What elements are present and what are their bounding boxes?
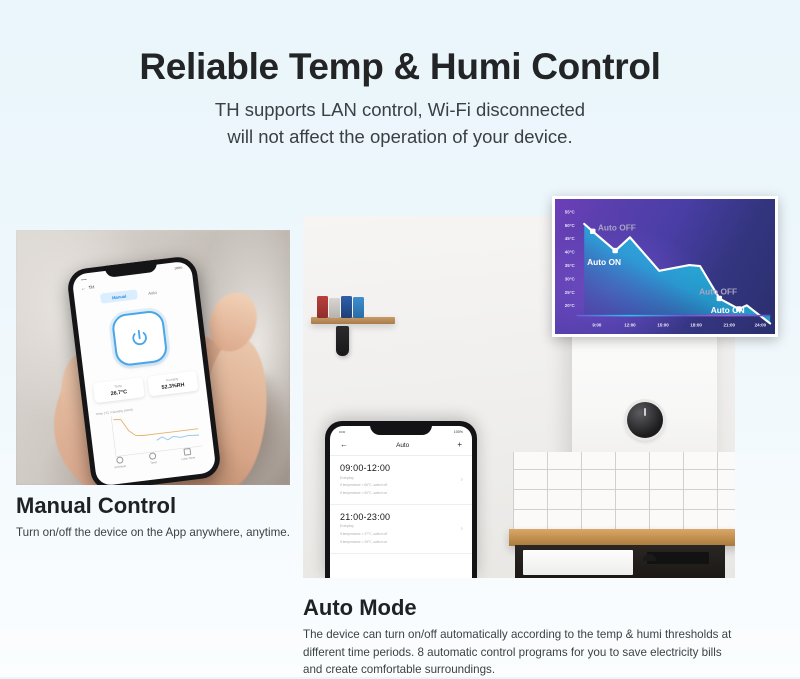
clock-icon: [115, 456, 123, 464]
manual-control-caption: Manual Control Turn on/off the device on…: [16, 493, 296, 542]
book-red: [317, 296, 328, 318]
auto-page-title: Auto: [396, 442, 409, 449]
chevron-right-icon: ›: [461, 525, 463, 532]
power-icon: [129, 327, 151, 349]
marker-point: [612, 248, 617, 253]
tab-schedule-label: Schedule: [114, 463, 126, 468]
temperature-card: Temp 26.7°C: [93, 377, 145, 402]
y-axis-ticks: 55°C 50°C 45°C 40°C 35°C 30°C 25°C 20°C: [565, 209, 576, 308]
tab-schedule[interactable]: Schedule: [113, 455, 126, 468]
wood-countertop: [509, 529, 735, 546]
auto-mode-caption: Auto Mode The device can turn on/off aut…: [303, 595, 733, 679]
tab-loop-timer[interactable]: Loop Timer: [180, 447, 195, 461]
manual-control-title: Manual Control: [16, 493, 296, 519]
page-subtitle: TH supports LAN control, Wi-Fi disconnec…: [0, 97, 800, 150]
tab-timer[interactable]: Timer: [149, 452, 157, 465]
device-name-label: TH: [88, 284, 94, 290]
annotation-auto-off: Auto OFF: [598, 223, 636, 233]
tab-timer-label: Timer: [150, 460, 157, 465]
schedule-repeat: Everyday: [340, 524, 462, 529]
status-battery: 100%: [454, 430, 463, 434]
cabinet-knob: [643, 554, 656, 561]
wall-shelf: [311, 317, 395, 324]
y-tick: 50°C: [565, 223, 576, 228]
x-tick: 9:00: [592, 322, 601, 327]
page-title: Reliable Temp & Humi Control: [0, 46, 800, 87]
status-signal: •••••: [81, 277, 87, 282]
temperature-chart-panel: 55°C 50°C 45°C 40°C 35°C 30°C 25°C 20°C …: [552, 196, 778, 337]
sensor-cards: Temp 26.7°C Humidity 52.3%RH: [85, 370, 206, 404]
schedule-rule-off: If temperature > 27°C, switch off: [340, 532, 462, 537]
y-tick: 45°C: [565, 236, 576, 241]
schedule-time: 09:00-12:00: [340, 463, 462, 473]
schedule-rule-on: If temperature < 60°C, switch on: [340, 491, 462, 496]
schedule-row[interactable]: 21:00-23:00 Everyday If temperature > 27…: [330, 505, 472, 554]
phone-notch: [370, 421, 432, 435]
auto-nav-bar: ← Auto +: [330, 434, 472, 456]
annotation-auto-on: Auto ON: [587, 257, 621, 267]
schedule-rule-on: If temperature < 25°C, switch on: [340, 540, 462, 545]
timer-icon: [149, 452, 157, 460]
y-tick: 40°C: [565, 250, 576, 255]
book-white: [329, 298, 340, 318]
boiler-dial: [627, 402, 663, 438]
x-tick: 24:00: [755, 322, 767, 327]
chevron-right-icon: ›: [461, 476, 463, 483]
subtitle-line-2: will not affect the operation of your de…: [0, 124, 800, 150]
y-tick: 35°C: [565, 263, 576, 268]
book-navy: [341, 296, 352, 318]
center-phone-screen: ••••• 100% ← Auto + 09:00-12:00 Everyday…: [330, 426, 472, 578]
back-arrow-icon[interactable]: ←: [81, 286, 86, 291]
schedule-time: 21:00-23:00: [340, 512, 462, 522]
marker-point: [590, 229, 595, 234]
y-tick: 25°C: [565, 290, 576, 295]
chart-svg: 55°C 50°C 45°C 40°C 35°C 30°C 25°C 20°C …: [555, 199, 775, 334]
kitchen-cabinet: [515, 545, 725, 578]
subtitle-line-1: TH supports LAN control, Wi-Fi disconnec…: [0, 97, 800, 123]
schedule-repeat: Everyday: [340, 476, 462, 481]
cabinet-door: [523, 550, 633, 575]
history-graph: Temp (°C) / Humidity (%RH) Schedule Time…: [95, 399, 208, 473]
manual-control-body: Turn on/off the device on the App anywhe…: [16, 524, 296, 542]
auto-mode-body: The device can turn on/off automatically…: [303, 626, 733, 679]
wall-hook: [336, 326, 349, 356]
y-tick: 20°C: [565, 303, 576, 308]
tile-backsplash: [513, 452, 735, 530]
page-header: Reliable Temp & Humi Control TH supports…: [0, 0, 800, 150]
y-tick: 30°C: [565, 276, 576, 281]
center-phone-device: ••••• 100% ← Auto + 09:00-12:00 Everyday…: [325, 421, 477, 578]
book-blue: [353, 297, 364, 318]
left-phone-screen: ••••• 100% ← TH Manual Auto Temp 26: [71, 260, 216, 485]
x-tick: 18:00: [690, 322, 702, 327]
back-arrow-icon[interactable]: ←: [340, 441, 348, 449]
annotation-auto-on: Auto ON: [711, 305, 745, 315]
plus-icon[interactable]: +: [457, 441, 462, 449]
appliance-slot: [647, 552, 709, 564]
y-tick: 55°C: [565, 209, 576, 214]
tab-manual[interactable]: Manual: [100, 289, 137, 303]
x-axis-ticks: 9:00 12:00 15:00 18:00 21:00 24:00: [592, 322, 766, 327]
status-signal: •••••: [339, 430, 345, 434]
manual-control-photo: ••••• 100% ← TH Manual Auto Temp 26: [16, 230, 290, 485]
schedule-row[interactable]: 09:00-12:00 Everyday If temperature > 66…: [330, 456, 472, 505]
loop-icon: [184, 447, 192, 455]
power-toggle-button[interactable]: [111, 309, 169, 367]
x-tick: 21:00: [724, 322, 736, 327]
humidity-card: Humidity 52.3%RH: [147, 371, 199, 396]
x-axis-line: [576, 315, 770, 317]
left-phone-device: ••••• 100% ← TH Manual Auto Temp 26: [66, 255, 222, 485]
x-tick: 15:00: [657, 322, 669, 327]
auto-mode-title: Auto Mode: [303, 595, 733, 621]
tab-loop-timer-label: Loop Timer: [181, 455, 195, 461]
tab-auto[interactable]: Auto: [137, 286, 169, 300]
schedule-rule-off: If temperature > 66°C, switch off: [340, 483, 462, 488]
annotation-auto-off: Auto OFF: [699, 287, 737, 297]
x-tick: 12:00: [624, 322, 636, 327]
